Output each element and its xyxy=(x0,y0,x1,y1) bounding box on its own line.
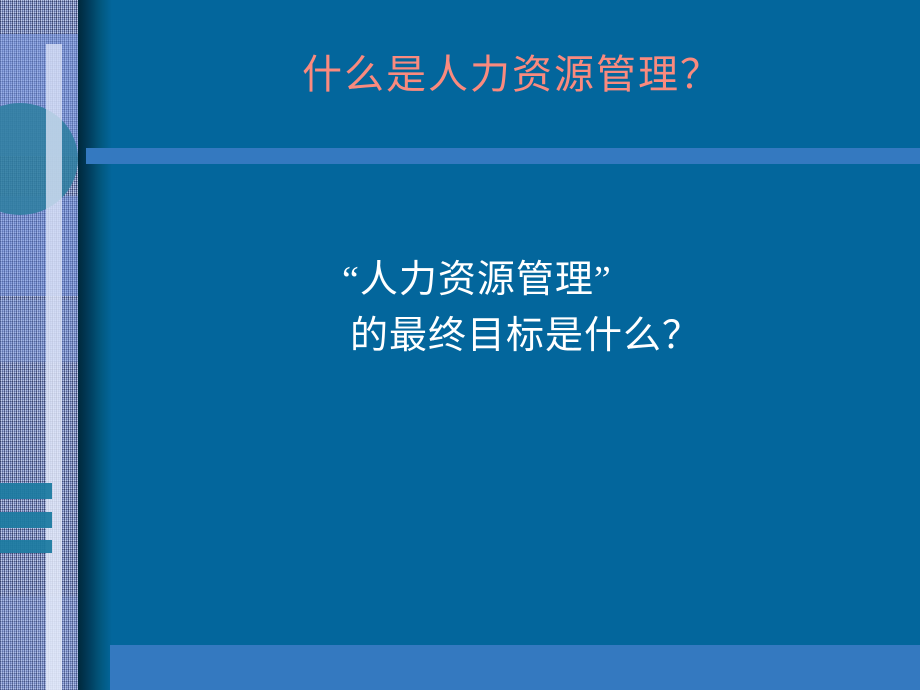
fabric-tone-zone-4 xyxy=(0,596,78,690)
body-line-2: 的最终目标是什么？ xyxy=(342,308,701,364)
tick-bar-3 xyxy=(0,540,52,553)
slide-title: 什么是人力资源管理？ xyxy=(112,52,912,98)
fabric-tone-zone-3 xyxy=(0,300,78,362)
slide-body: “人力资源管理” 的最终目标是什么？ xyxy=(342,252,701,364)
sidebar-edge-gradient xyxy=(78,0,112,690)
body-line-1: “人力资源管理” xyxy=(342,252,701,308)
vertical-stripe-decoration xyxy=(46,44,62,690)
bottom-accent-bar xyxy=(110,645,920,690)
sidebar-decoration xyxy=(0,0,78,690)
tick-bar-2 xyxy=(0,512,52,528)
presentation-slide: 什么是人力资源管理？ “人力资源管理” 的最终目标是什么？ xyxy=(0,0,920,690)
title-underline-rule xyxy=(86,148,920,164)
tick-bar-1 xyxy=(0,483,52,499)
